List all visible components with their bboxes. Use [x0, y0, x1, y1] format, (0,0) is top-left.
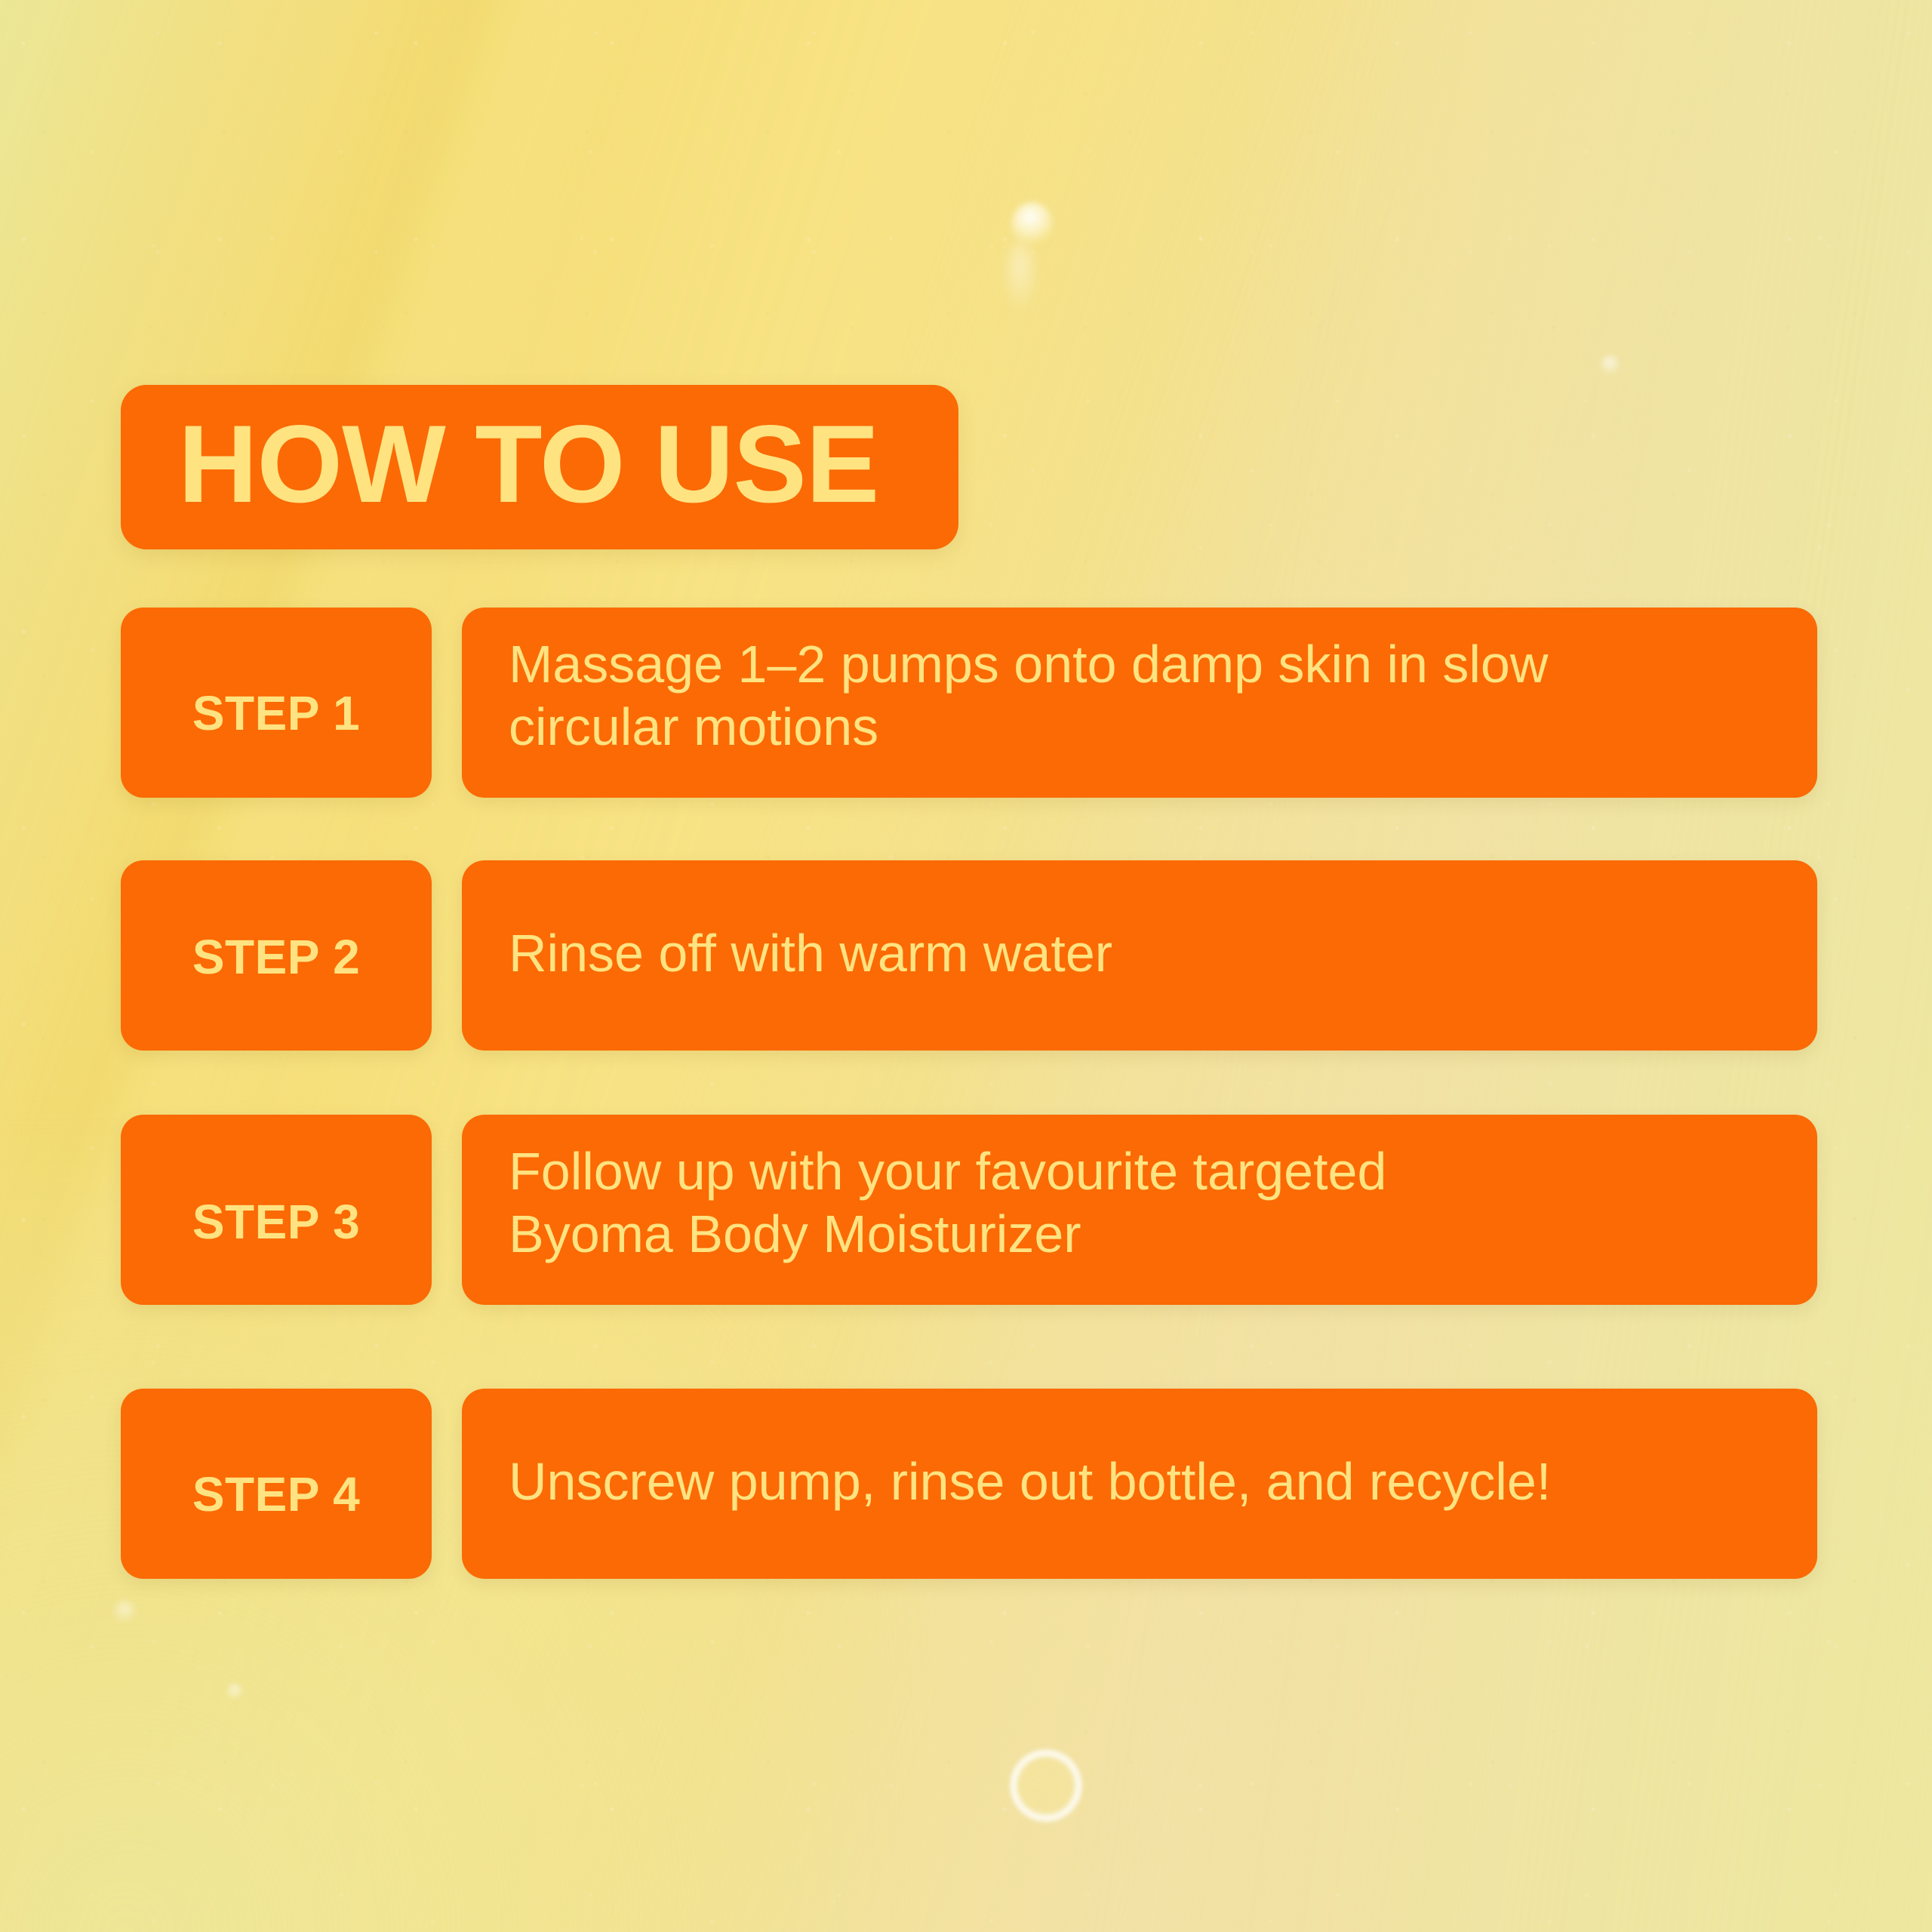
step-badge-3: STEP 3	[121, 1115, 432, 1305]
list-item: STEP 3 Follow up with your favourite tar…	[121, 1115, 1817, 1305]
step-description: Unscrew pump, rinse out bottle, and recy…	[462, 1451, 1587, 1518]
list-item: STEP 4 Unscrew pump, rinse out bottle, a…	[121, 1389, 1817, 1579]
step-panel-3: Follow up with your favourite targeted B…	[462, 1115, 1817, 1305]
step-panel-2: Rinse off with warm water	[462, 860, 1817, 1051]
step-description: Rinse off with warm water	[462, 922, 1149, 989]
list-item: STEP 1 Massage 1–2 pumps onto damp skin …	[121, 608, 1817, 798]
step-description: Massage 1–2 pumps onto damp skin in slow…	[462, 608, 1584, 758]
step-panel-1: Massage 1–2 pumps onto damp skin in slow…	[462, 608, 1817, 798]
step-description: Follow up with your favourite targeted B…	[462, 1115, 1423, 1265]
step-panel-4: Unscrew pump, rinse out bottle, and recy…	[462, 1389, 1817, 1579]
step-badge-1: STEP 1	[121, 608, 432, 798]
how-to-use-graphic: HOW TO USE STEP 1 Massage 1–2 pumps onto…	[0, 0, 1932, 1932]
content-layer: HOW TO USE STEP 1 Massage 1–2 pumps onto…	[0, 0, 1932, 1932]
list-item: STEP 2 Rinse off with warm water	[121, 860, 1817, 1051]
step-badge-4: STEP 4	[121, 1389, 432, 1579]
step-badge-2: STEP 2	[121, 860, 432, 1051]
step-badge-label: STEP 1	[121, 689, 432, 737]
step-badge-label: STEP 3	[121, 1198, 432, 1246]
step-badge-label: STEP 4	[121, 1470, 432, 1518]
page-title-pill: HOW TO USE	[121, 385, 958, 549]
step-badge-label: STEP 2	[121, 933, 432, 981]
page-title: HOW TO USE	[121, 409, 878, 525]
